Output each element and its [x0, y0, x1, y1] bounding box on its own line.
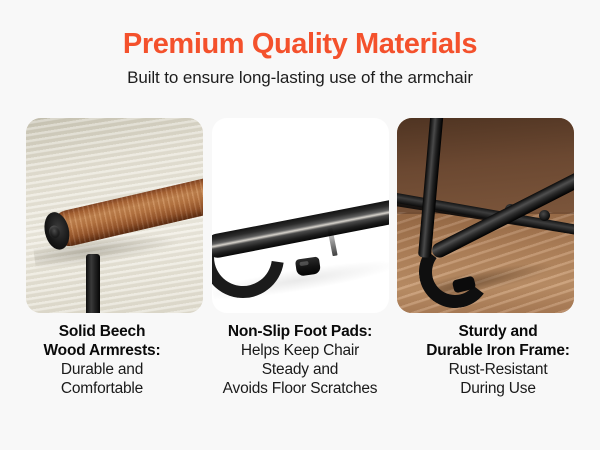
feature-image-iron-frame: [397, 118, 574, 313]
foot-pad-highlight: [299, 261, 308, 266]
header: Premium Quality Materials Built to ensur…: [0, 0, 600, 88]
infographic-page: Premium Quality Materials Built to ensur…: [0, 0, 600, 450]
caption-iron-frame: Sturdy and Durable Iron Frame: Rust-Resi…: [400, 322, 596, 398]
caption-heading-line: Wood Armrests:: [4, 341, 200, 360]
page-subtitle: Built to ensure long-lasting use of the …: [0, 68, 600, 88]
caption-heading-line: Durable Iron Frame:: [400, 341, 596, 360]
caption-beech-wood-armrest: Solid Beech Wood Armrests: Durable and C…: [4, 322, 200, 398]
frame-bottom-rail: [212, 197, 389, 260]
caption-body-line: During Use: [400, 379, 596, 398]
caption-body-line: Steady and: [202, 360, 398, 379]
feature-image-non-slip-foot-pad: [212, 118, 389, 313]
caption-heading-line: Non-Slip Foot Pads:: [202, 322, 398, 341]
caption-body-line: Helps Keep Chair: [202, 341, 398, 360]
caption-body-line: Avoids Floor Scratches: [202, 379, 398, 398]
feature-caption-row: Solid Beech Wood Armrests: Durable and C…: [4, 322, 596, 398]
end-cap-screw: [48, 224, 62, 239]
caption-body-line: Durable and: [4, 360, 200, 379]
caption-heading-line: Sturdy and: [400, 322, 596, 341]
feature-image-row: [26, 118, 574, 313]
feature-image-beech-wood-armrest: [26, 118, 203, 313]
caption-body-line: Comfortable: [4, 379, 200, 398]
frame-bolt-right: [539, 210, 550, 221]
caption-body-line: Rust-Resistant: [400, 360, 596, 379]
page-title: Premium Quality Materials: [0, 29, 600, 59]
caption-heading-line: Solid Beech: [4, 322, 200, 341]
caption-non-slip-foot-pad: Non-Slip Foot Pads: Helps Keep Chair Ste…: [202, 322, 398, 398]
armrest-support-leg: [86, 254, 100, 313]
